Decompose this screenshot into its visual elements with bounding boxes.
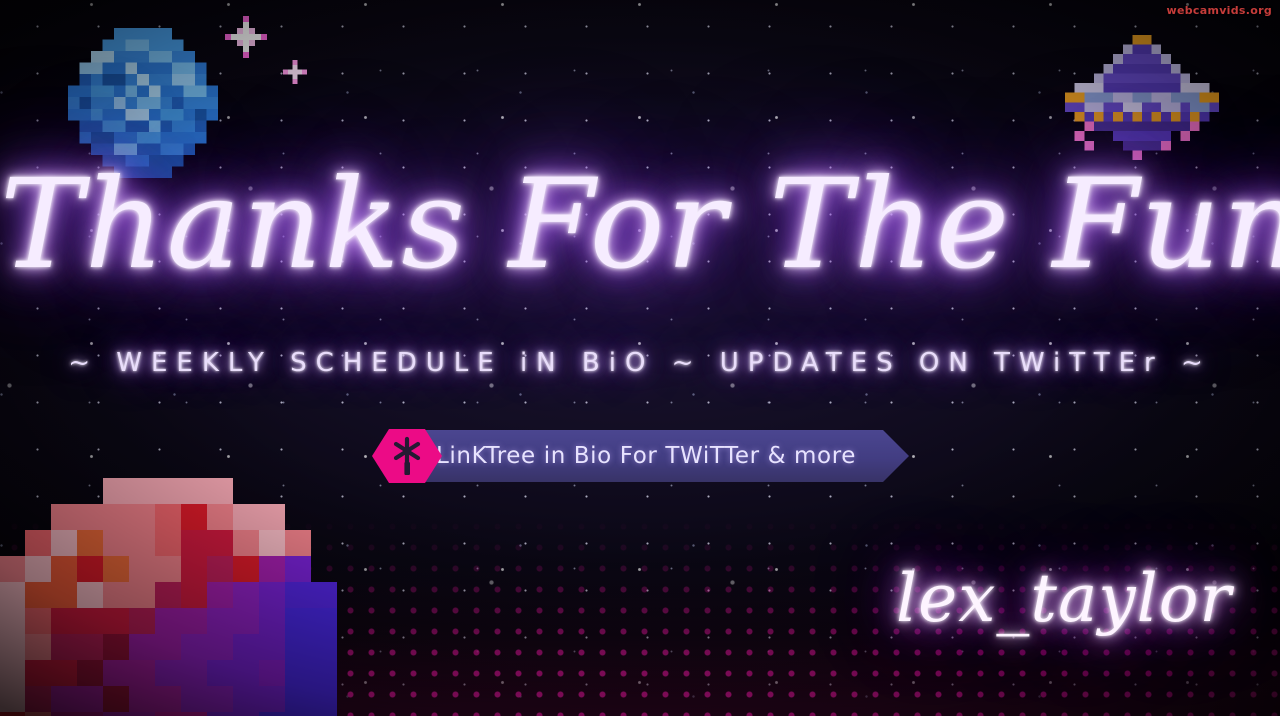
stream-ending-overlay: Thanks For The Fun! ~ WEEKLY SCHEDULE iN… — [0, 0, 1280, 716]
signature-handle: lex_taylor — [896, 560, 1232, 637]
banner-label: LinKTree in Bio For TWiTTer & more — [436, 430, 856, 482]
pixel-ufo — [1062, 35, 1222, 160]
headline-container: Thanks For The Fun! — [0, 163, 1280, 287]
sparkle-asterisk-icon — [372, 429, 442, 483]
page-title: Thanks For The Fun! — [0, 163, 1280, 287]
pixel-sparkle-large — [225, 16, 267, 58]
pixel-planet-pink — [0, 478, 340, 716]
subtitle-text: ~ WEEKLY SCHEDULE iN BiO ~ UPDATES ON TW… — [68, 348, 1212, 378]
watermark-text: webcamvids.org — [1167, 4, 1273, 17]
pixel-sparkle-small — [283, 60, 307, 84]
linktree-banner[interactable]: LinKTree in Bio For TWiTTer & more — [372, 430, 909, 482]
subtitle-container: ~ WEEKLY SCHEDULE iN BiO ~ UPDATES ON TW… — [0, 348, 1280, 378]
